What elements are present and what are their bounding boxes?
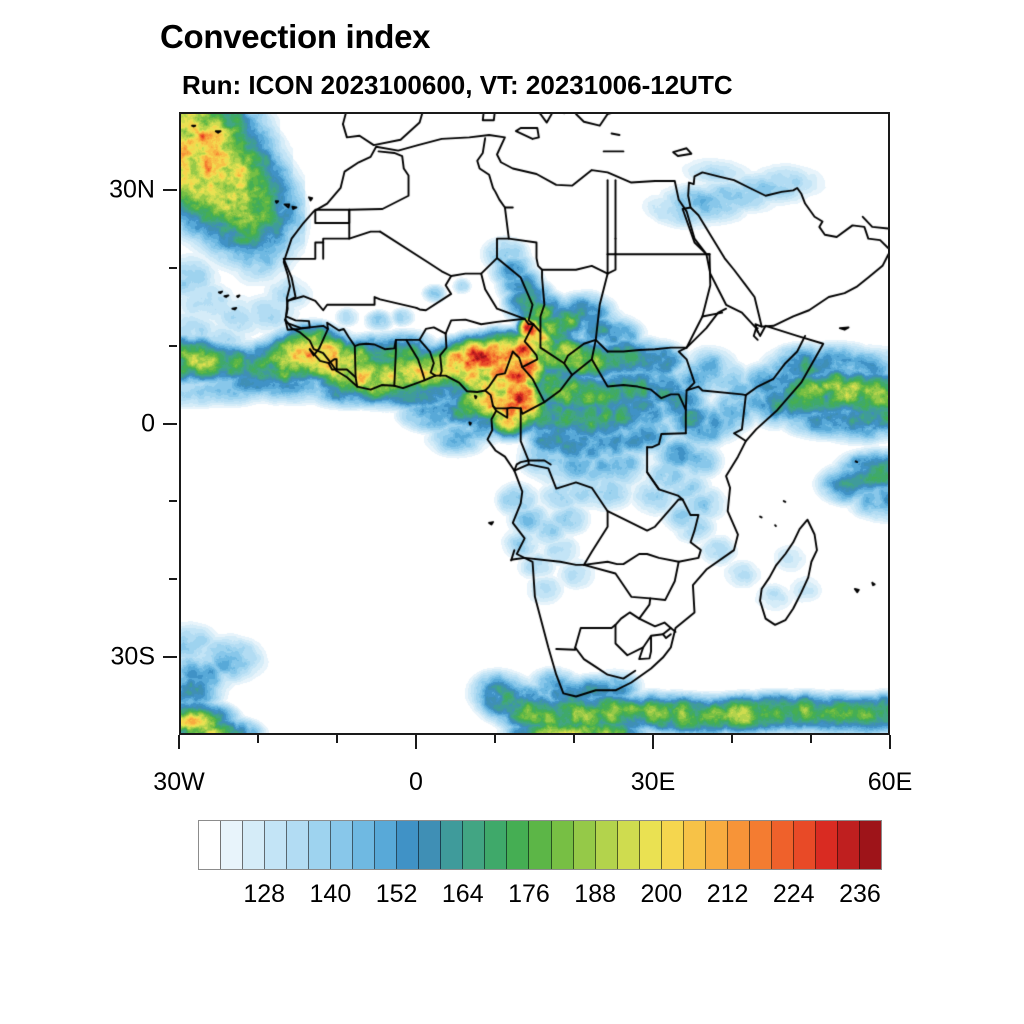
- y-axis-label: 0: [0, 409, 155, 438]
- x-axis-label: 30E: [631, 768, 675, 797]
- colorbar-cell: [596, 821, 618, 869]
- colorbar-tick-label: 128: [243, 880, 285, 909]
- colorbar-cell: [309, 821, 331, 869]
- colorbar-cell: [529, 821, 551, 869]
- page-title: Convection index: [160, 18, 430, 56]
- convection-index-map: [181, 114, 888, 733]
- colorbar-cell: [485, 821, 507, 869]
- x-axis-tick: [415, 735, 417, 749]
- x-axis-tick: [178, 735, 180, 749]
- chart-subtitle: Run: ICON 2023100600, VT: 20231006-12UTC: [182, 70, 733, 101]
- colorbar-tick-label: 200: [640, 880, 682, 909]
- y-axis-tick: [169, 500, 177, 502]
- colorbar-tick-label: 152: [376, 880, 418, 909]
- colorbar-tick-label: 188: [574, 880, 616, 909]
- colorbar-cell: [353, 821, 375, 869]
- colorbar-cell: [287, 821, 309, 869]
- colorbar-cell: [838, 821, 860, 869]
- colorbar-cell: [552, 821, 574, 869]
- colorbar-cell: [772, 821, 794, 869]
- x-axis-label: 0: [409, 768, 423, 797]
- y-axis-tick: [163, 423, 177, 425]
- colorbar-cell: [618, 821, 640, 869]
- x-axis-tick: [889, 735, 891, 749]
- colorbar-tick-label: 164: [442, 880, 484, 909]
- colorbar-cell: [463, 821, 485, 869]
- colorbar-cell: [860, 821, 881, 869]
- x-axis-tick: [494, 735, 496, 743]
- colorbar-tick-label: 176: [508, 880, 550, 909]
- colorbar-cell: [816, 821, 838, 869]
- colorbar-cell: [728, 821, 750, 869]
- colorbar-tick-label: 140: [310, 880, 352, 909]
- y-axis-label: 30N: [0, 175, 155, 204]
- colorbar-cell: [640, 821, 662, 869]
- colorbar-cell: [199, 821, 221, 869]
- colorbar-cell: [706, 821, 728, 869]
- colorbar-tick-label: 236: [839, 880, 881, 909]
- y-axis-tick: [169, 578, 177, 580]
- colorbar-cell: [794, 821, 816, 869]
- y-axis-tick: [163, 656, 177, 658]
- colorbar-tick-labels: 128140152164176188200212224236: [0, 880, 1024, 916]
- colorbar-cell: [684, 821, 706, 869]
- y-axis-tick: [169, 345, 177, 347]
- colorbar-cell: [441, 821, 463, 869]
- y-axis-tick: [169, 267, 177, 269]
- y-axis-label: 30S: [0, 643, 155, 672]
- x-axis-tick: [810, 735, 812, 743]
- colorbar: [198, 820, 882, 870]
- colorbar-cell: [265, 821, 287, 869]
- colorbar-cell: [574, 821, 596, 869]
- colorbar-cell: [221, 821, 243, 869]
- colorbar-cell: [750, 821, 772, 869]
- colorbar-cell: [243, 821, 265, 869]
- colorbar-cell: [507, 821, 529, 869]
- colorbar-cell: [375, 821, 397, 869]
- x-axis-tick: [731, 735, 733, 743]
- colorbar-cell: [419, 821, 441, 869]
- map-plot-area: [179, 112, 890, 735]
- x-axis-label: 30W: [153, 768, 204, 797]
- x-axis-label: 60E: [868, 768, 912, 797]
- y-axis-tick: [163, 189, 177, 191]
- colorbar-tick-label: 212: [707, 880, 749, 909]
- x-axis-tick: [257, 735, 259, 743]
- x-axis-tick: [573, 735, 575, 743]
- x-axis-tick: [652, 735, 654, 749]
- colorbar-tick-label: 224: [773, 880, 815, 909]
- colorbar-cell: [662, 821, 684, 869]
- x-axis-tick: [336, 735, 338, 743]
- colorbar-cell: [397, 821, 419, 869]
- colorbar-cell: [331, 821, 353, 869]
